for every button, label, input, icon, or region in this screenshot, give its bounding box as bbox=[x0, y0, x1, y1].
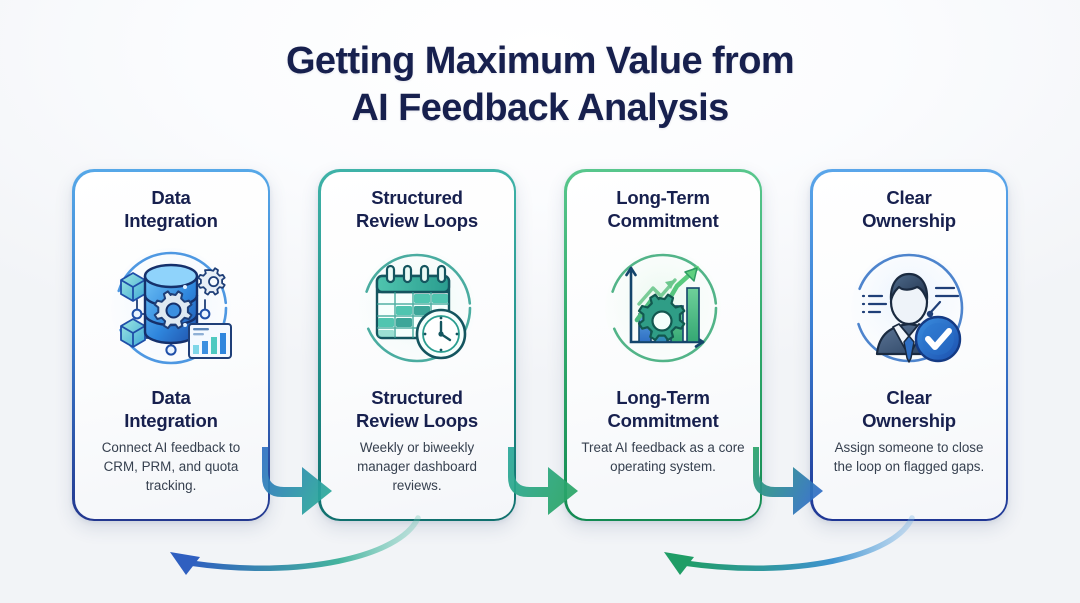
database-network-icon bbox=[105, 242, 237, 374]
card-structured-review-loops-title-top: Structured Review Loops bbox=[356, 186, 478, 234]
card-long-term-commitment-title-bottom: Long-Term Commitment bbox=[607, 386, 718, 433]
page-title-line-2: AI Feedback Analysis bbox=[0, 85, 1080, 132]
card-clear-ownership-inner: Clear Ownership bbox=[813, 172, 1006, 519]
card-clear-ownership-description: Assign someone to close the loop on flag… bbox=[823, 438, 996, 476]
card-long-term-commitment-description: Treat AI feedback as a core operating sy… bbox=[577, 438, 750, 476]
card3-title-top-line1: Long-Term bbox=[607, 186, 718, 210]
card3-title-bottom-line1: Long-Term bbox=[607, 386, 718, 410]
feedback-loops bbox=[0, 495, 1080, 603]
card4-title-bottom-line2: Ownership bbox=[862, 409, 956, 433]
card1-title-bottom-line1: Data bbox=[124, 386, 217, 410]
card-structured-review-loops-description: Weekly or biweekly manager dashboard rev… bbox=[331, 438, 504, 495]
card2-title-top-line1: Structured bbox=[356, 186, 478, 210]
page-title-line-1: Getting Maximum Value from bbox=[0, 38, 1080, 85]
process-cards-row: Data Integration bbox=[0, 169, 1080, 521]
card-data-integration-inner: Data Integration bbox=[75, 172, 268, 519]
card1-title-bottom-line2: Integration bbox=[124, 409, 217, 433]
card1-title-top-line1: Data bbox=[124, 186, 217, 210]
card2-title-bottom-line2: Review Loops bbox=[356, 409, 478, 433]
card4-title-top-line1: Clear bbox=[862, 186, 956, 210]
page-title: Getting Maximum Value from AI Feedback A… bbox=[0, 38, 1080, 132]
card-data-integration[interactable]: Data Integration bbox=[72, 169, 270, 521]
card-clear-ownership[interactable]: Clear Ownership bbox=[810, 169, 1008, 521]
card-structured-review-loops-inner: Structured Review Loops bbox=[321, 172, 514, 519]
card4-title-top-line2: Ownership bbox=[862, 209, 956, 233]
calendar-clock-icon bbox=[351, 242, 483, 374]
card3-title-bottom-line2: Commitment bbox=[607, 409, 718, 433]
card-long-term-commitment[interactable]: Long-Term Commitment bbox=[564, 169, 762, 521]
card-long-term-commitment-title-top: Long-Term Commitment bbox=[607, 186, 718, 234]
card-clear-ownership-title-bottom: Clear Ownership bbox=[862, 386, 956, 433]
card-structured-review-loops-title-bottom: Structured Review Loops bbox=[356, 386, 478, 433]
card-long-term-commitment-inner: Long-Term Commitment bbox=[567, 172, 760, 519]
growth-chart-gear-icon bbox=[597, 242, 729, 374]
card3-title-top-line2: Commitment bbox=[607, 209, 718, 233]
feedback-loop-right bbox=[664, 518, 912, 575]
card2-title-top-line2: Review Loops bbox=[356, 209, 478, 233]
card2-title-bottom-line1: Structured bbox=[356, 386, 478, 410]
card-data-integration-description: Connect AI feedback to CRM, PRM, and quo… bbox=[85, 438, 258, 495]
feedback-loop-left bbox=[170, 518, 418, 575]
person-check-icon bbox=[843, 242, 975, 374]
card1-title-top-line2: Integration bbox=[124, 209, 217, 233]
card-clear-ownership-title-top: Clear Ownership bbox=[862, 186, 956, 234]
card-data-integration-title-top: Data Integration bbox=[124, 186, 217, 234]
card-data-integration-title-bottom: Data Integration bbox=[124, 386, 217, 433]
card4-title-bottom-line1: Clear bbox=[862, 386, 956, 410]
card-structured-review-loops[interactable]: Structured Review Loops bbox=[318, 169, 516, 521]
